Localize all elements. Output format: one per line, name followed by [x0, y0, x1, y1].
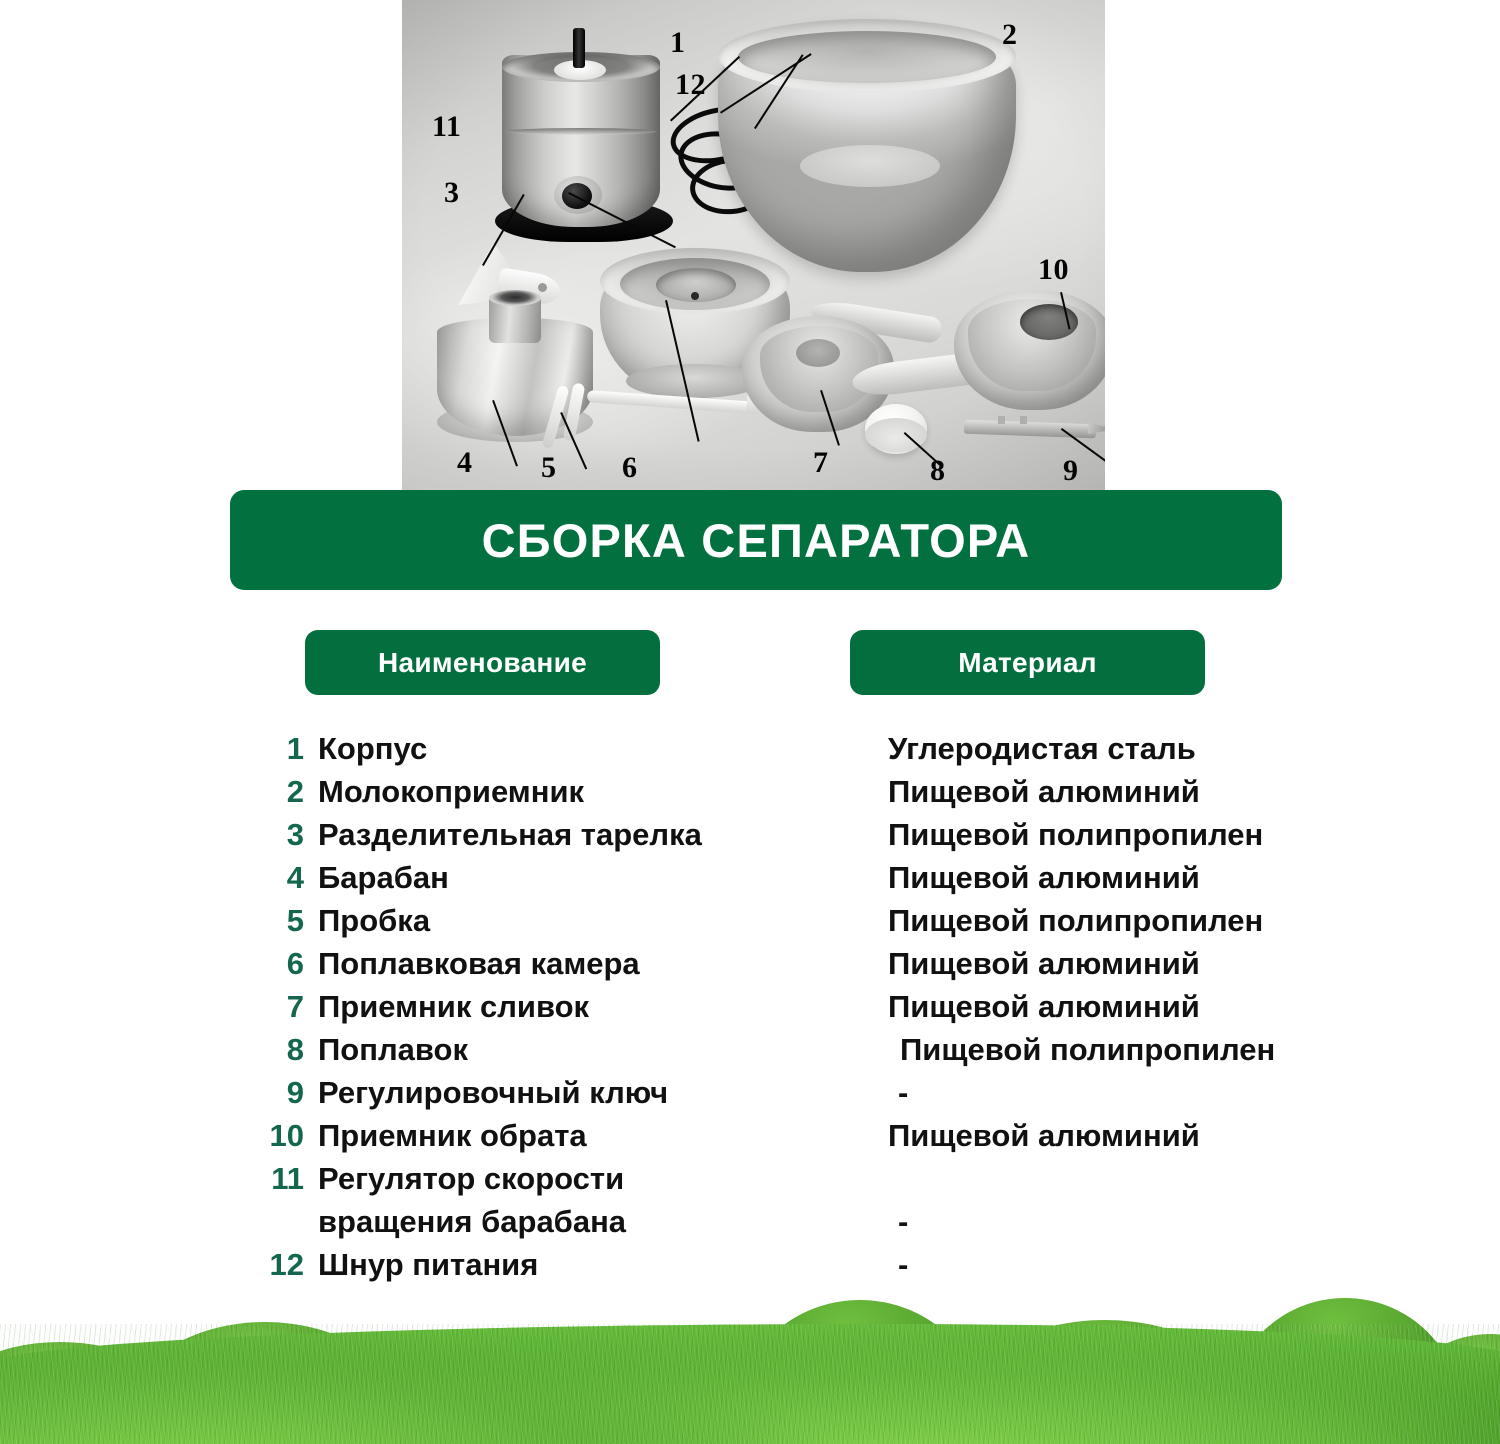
table-row: 4 Барабан Пищевой алюминий	[0, 856, 1500, 899]
row-material: Пищевой полипропилен	[900, 1028, 1275, 1071]
column-header-material: Материал	[850, 630, 1205, 695]
page-title: СБОРКА СЕПАРАТОРА	[482, 513, 1031, 568]
table-row: 7 Приемник сливок Пищевой алюминий	[0, 985, 1500, 1028]
row-material: Пищевой алюминий	[888, 770, 1200, 813]
row-name: Регулировочный ключ	[318, 1071, 668, 1114]
row-name: Регулятор скорости	[318, 1157, 624, 1200]
parts-table: 1 Корпус Углеродистая сталь 2 Молокоприе…	[0, 727, 1500, 1286]
grass-foreground	[0, 1324, 1500, 1444]
row-number: 5	[248, 899, 304, 942]
row-number: 4	[248, 856, 304, 899]
row-name: вращения барабана	[318, 1200, 626, 1243]
page-title-bar: СБОРКА СЕПАРАТОРА	[230, 490, 1282, 590]
row-number: 2	[248, 770, 304, 813]
table-row: 5 Пробка Пищевой полипропилен	[0, 899, 1500, 942]
table-row: 11 Регулятор скорости	[0, 1157, 1500, 1200]
row-number: 6	[248, 942, 304, 985]
table-row: 8 Поплавок Пищевой полипропилен	[0, 1028, 1500, 1071]
row-name: Приемник сливок	[318, 985, 589, 1028]
row-number: 8	[248, 1028, 304, 1071]
column-header-name-label: Наименование	[378, 647, 587, 679]
separator-parts-photo: 1 2 3 4 5 6 7 8 9 10 11 12	[402, 0, 1105, 490]
table-row: 1 Корпус Углеродистая сталь	[0, 727, 1500, 770]
row-name: Поплавковая камера	[318, 942, 640, 985]
row-name: Поплавок	[318, 1028, 468, 1071]
grass-footer-decoration	[0, 1276, 1500, 1444]
row-number: 10	[248, 1114, 304, 1157]
row-name: Молокоприемник	[318, 770, 584, 813]
row-name: Приемник обрата	[318, 1114, 587, 1157]
row-number: 9	[248, 1071, 304, 1114]
row-name: Барабан	[318, 856, 449, 899]
row-material: Пищевой алюминий	[888, 985, 1200, 1028]
table-row: 9 Регулировочный ключ -	[0, 1071, 1500, 1114]
row-material: Пищевой алюминий	[888, 1114, 1200, 1157]
row-name: Корпус	[318, 727, 427, 770]
table-row: 6 Поплавковая камера Пищевой алюминий	[0, 942, 1500, 985]
row-number: 1	[248, 727, 304, 770]
table-row: 10 Приемник обрата Пищевой алюминий	[0, 1114, 1500, 1157]
grass-texture	[0, 1324, 1500, 1444]
table-row-continuation: вращения барабана -	[0, 1200, 1500, 1243]
table-row: 3 Разделительная тарелка Пищевой полипро…	[0, 813, 1500, 856]
row-name: Пробка	[318, 899, 430, 942]
row-name: Разделительная тарелка	[318, 813, 702, 856]
row-material: Пищевой алюминий	[888, 942, 1200, 985]
row-material: -	[898, 1071, 908, 1114]
row-number: 3	[248, 813, 304, 856]
row-material: Пищевой полипропилен	[888, 813, 1263, 856]
table-row: 2 Молокоприемник Пищевой алюминий	[0, 770, 1500, 813]
column-header-name: Наименование	[305, 630, 660, 695]
row-material: Пищевой полипропилен	[888, 899, 1263, 942]
row-material: Пищевой алюминий	[888, 856, 1200, 899]
photo-vignette	[402, 0, 1105, 490]
row-material: Углеродистая сталь	[888, 727, 1196, 770]
row-material: -	[898, 1200, 908, 1243]
column-header-material-label: Материал	[958, 647, 1097, 679]
row-number: 7	[248, 985, 304, 1028]
row-number: 11	[248, 1157, 304, 1200]
